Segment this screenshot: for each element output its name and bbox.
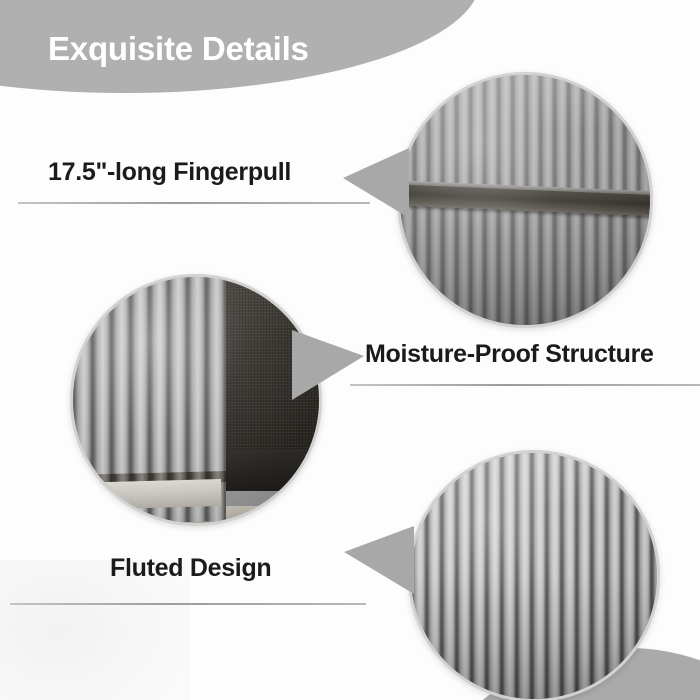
callout-label-fingerpull: 17.5"-long Fingerpull: [48, 158, 291, 187]
sphere-shading-overlay: [73, 277, 319, 523]
pointer-triangle-moisture: [292, 330, 364, 400]
sphere-shading-overlay: [411, 453, 657, 699]
callout-rule-fingerpull: [18, 202, 370, 204]
moisture-scene: [73, 277, 319, 523]
flute-texture-fluted: [411, 453, 657, 699]
callout-image-moisture: [70, 274, 322, 526]
callout-image-fluted: [408, 450, 660, 700]
sphere-shading-overlay: [400, 75, 650, 325]
callout-label-fluted: Fluted Design: [110, 554, 271, 583]
pointer-triangle-fingerpull: [343, 148, 409, 218]
flute-texture-fingerpull: [400, 75, 650, 325]
callout-rule-fluted: [10, 603, 366, 605]
callout-rule-moisture: [350, 384, 700, 386]
callout-image-fingerpull: [397, 72, 653, 328]
page-title: Exquisite Details: [48, 30, 309, 68]
pointer-triangle-fluted: [344, 526, 414, 594]
infographic-canvas: Exquisite Details 17.5"-long Fingerpull …: [0, 0, 700, 700]
callout-label-moisture: Moisture-Proof Structure: [365, 340, 654, 369]
